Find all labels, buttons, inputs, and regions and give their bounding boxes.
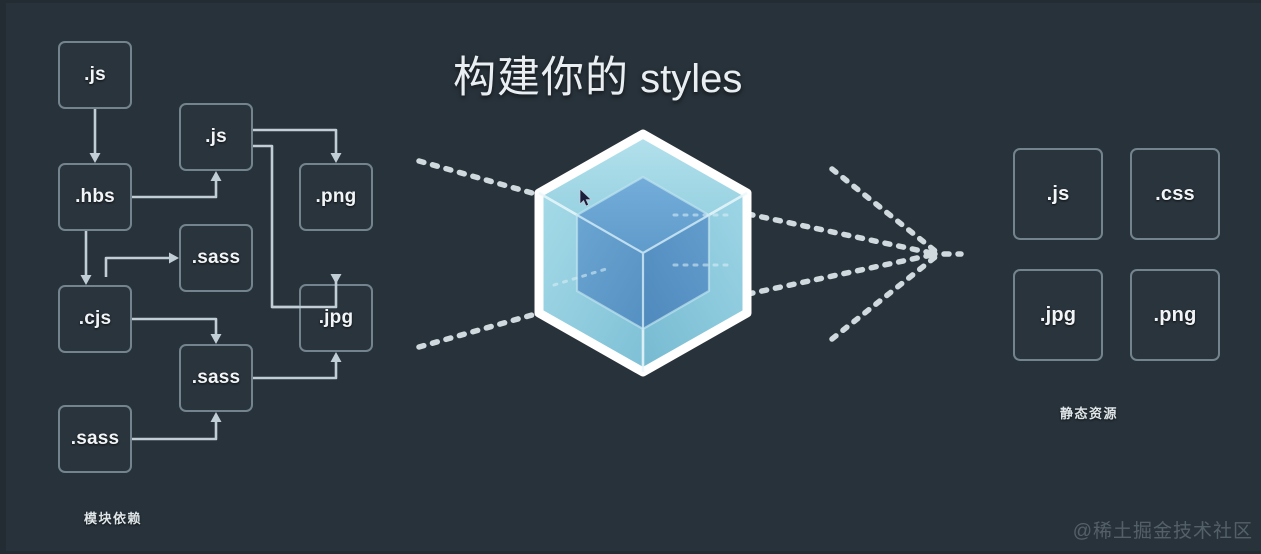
input-box-js-mid[interactable]: .js (179, 103, 253, 171)
output-box-js[interactable]: .js (1013, 148, 1103, 240)
input-section-caption: 模块依赖 (84, 508, 142, 527)
mouse-cursor (579, 189, 593, 207)
input-box-js-top[interactable]: .js (58, 41, 132, 109)
page-title-cjk: 构建你的 (453, 54, 629, 102)
page-title-latin: styles (629, 57, 742, 101)
output-box-png[interactable]: .png (1130, 269, 1220, 361)
watermark: @稀土掘金技术社区 (1073, 516, 1253, 543)
input-box-hbs[interactable]: .hbs (58, 163, 132, 231)
input-box-sass-upper[interactable]: .sass (179, 224, 253, 292)
output-box-css[interactable]: .css (1130, 148, 1220, 240)
screenshot-frame: 构建你的 styles (0, 0, 1261, 554)
input-box-png[interactable]: .png (299, 163, 373, 231)
input-box-jpg[interactable]: .jpg (299, 284, 373, 352)
slide-canvas: 构建你的 styles (6, 3, 1261, 551)
input-box-sass-middle[interactable]: .sass (179, 344, 253, 412)
input-box-sass-bottom[interactable]: .sass (58, 405, 132, 473)
output-section-caption: 静态资源 (1060, 403, 1118, 422)
output-box-jpg[interactable]: .jpg (1013, 269, 1103, 361)
input-box-cjs[interactable]: .cjs (58, 285, 132, 353)
page-title: 构建你的 styles (453, 43, 742, 105)
